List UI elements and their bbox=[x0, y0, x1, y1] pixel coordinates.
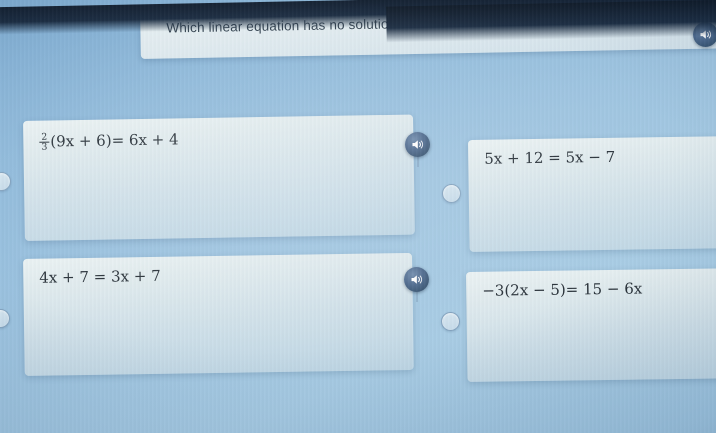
answer-option-a[interactable]: 2 3 (9x + 6)= 6x + 4 bbox=[23, 115, 415, 241]
answer-option-d[interactable]: −3(2x − 5)= 15 − 6x bbox=[466, 268, 716, 382]
answer-equation-a-rest: (9x + 6)= 6x + 4 bbox=[50, 130, 179, 150]
speaker-icon-answer-c[interactable] bbox=[404, 267, 429, 292]
fraction-denominator: 3 bbox=[39, 142, 49, 153]
radio-button-answer-d[interactable] bbox=[441, 312, 460, 331]
answer-option-b[interactable]: 5x + 12 = 5x − 7 bbox=[468, 136, 716, 252]
fraction-numerator: 2 bbox=[39, 133, 49, 143]
radio-button-answer-a[interactable] bbox=[0, 172, 11, 191]
speaker-icon-answer-a[interactable] bbox=[405, 132, 430, 157]
answer-equation-c: 4x + 7 = 3x + 7 bbox=[39, 269, 161, 286]
answer-equation-a: 2 3 (9x + 6)= 6x + 4 bbox=[39, 130, 179, 152]
radio-button-answer-c[interactable] bbox=[0, 309, 10, 328]
radio-button-answer-b[interactable] bbox=[442, 184, 461, 203]
answer-equation-b: 5x + 12 = 5x − 7 bbox=[484, 150, 615, 167]
answer-option-c[interactable]: 4x + 7 = 3x + 7 bbox=[23, 253, 414, 376]
fraction-two-thirds: 2 3 bbox=[39, 133, 49, 153]
monitor-bezel-top-right bbox=[386, 0, 716, 43]
screen-photo: Which linear equation has no solution? 2… bbox=[0, 0, 716, 433]
answer-equation-d: −3(2x − 5)= 15 − 6x bbox=[482, 282, 642, 299]
